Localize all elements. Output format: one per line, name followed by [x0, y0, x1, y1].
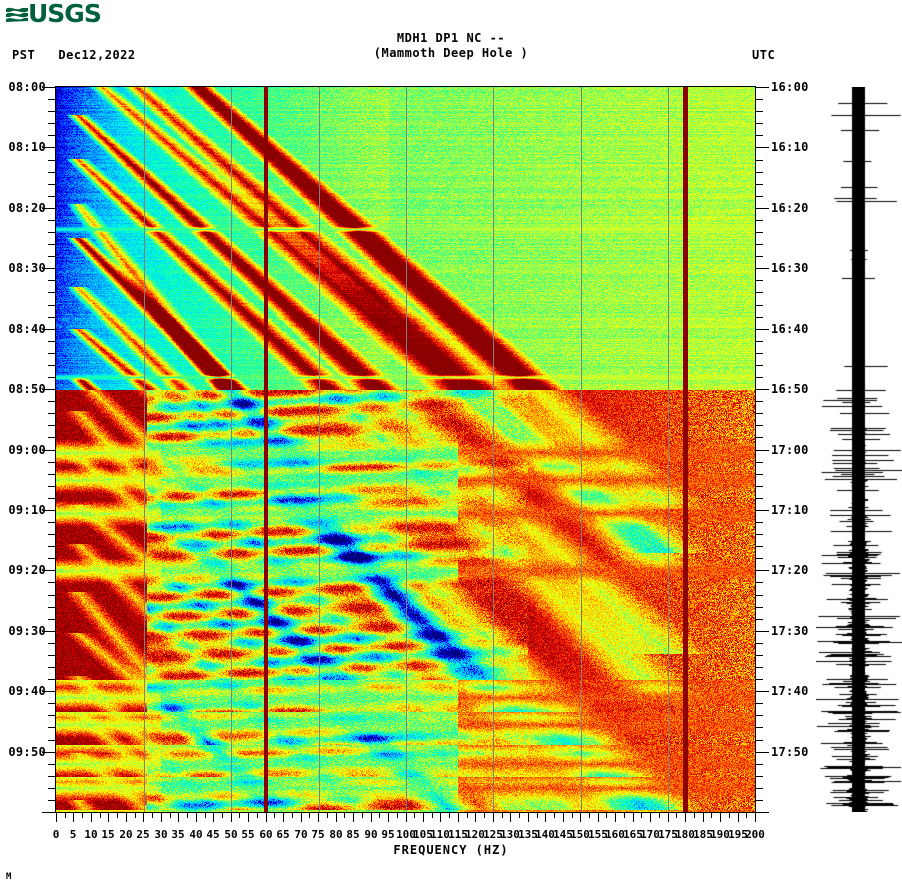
time-label-local-0930: 09:30 — [0, 624, 46, 638]
time-label-local-0850: 08:50 — [0, 382, 46, 396]
freq-label-200: 200 — [745, 828, 765, 841]
freq-label-45: 45 — [206, 828, 219, 841]
time-label-local-0910: 09:10 — [0, 503, 46, 517]
freq-label-25: 25 — [136, 828, 149, 841]
time-label-utc-1610: 16:10 — [771, 140, 809, 154]
freq-label-70: 70 — [294, 828, 307, 841]
freq-label-40: 40 — [189, 828, 202, 841]
freq-label-130: 130 — [500, 828, 520, 841]
page-subtitle: (Mammoth Deep Hole ) — [0, 46, 902, 60]
time-label-utc-1630: 16:30 — [771, 261, 809, 275]
freq-label-50: 50 — [224, 828, 237, 841]
frequency-axis-title: FREQUENCY (HZ) — [0, 843, 902, 857]
freq-label-60: 60 — [259, 828, 272, 841]
freq-label-15: 15 — [101, 828, 114, 841]
usgs-logo: USGS — [6, 2, 96, 28]
freq-label-65: 65 — [276, 828, 289, 841]
time-label-utc-1600: 16:00 — [771, 80, 809, 94]
time-label-local-0900: 09:00 — [0, 443, 46, 457]
freq-label-5: 5 — [70, 828, 77, 841]
time-label-utc-1650: 16:50 — [771, 382, 809, 396]
freq-label-0: 0 — [53, 828, 60, 841]
spectrogram-panel[interactable] — [56, 87, 755, 812]
time-label-utc-1620: 16:20 — [771, 201, 809, 215]
usgs-wave-icon — [6, 5, 28, 23]
page-title: MDH1 DP1 NC -- — [0, 31, 902, 45]
time-label-local-0940: 09:40 — [0, 684, 46, 698]
freq-label-75: 75 — [311, 828, 324, 841]
freq-label-180: 180 — [675, 828, 695, 841]
time-label-local-0820: 08:20 — [0, 201, 46, 215]
time-label-utc-1740: 17:40 — [771, 684, 809, 698]
usgs-wordmark: USGS — [28, 1, 101, 27]
corner-mark: M — [6, 872, 11, 882]
spectrogram-canvas[interactable] — [56, 87, 755, 812]
freq-label-170: 170 — [640, 828, 660, 841]
seismogram-trace-panel[interactable] — [816, 87, 902, 812]
freq-label-35: 35 — [171, 828, 184, 841]
time-label-utc-1730: 17:30 — [771, 624, 809, 638]
time-label-local-0920: 09:20 — [0, 563, 46, 577]
freq-label-120: 120 — [465, 828, 485, 841]
time-label-local-0810: 08:10 — [0, 140, 46, 154]
time-label-utc-1750: 17:50 — [771, 745, 809, 759]
freq-label-90: 90 — [364, 828, 377, 841]
time-label-local-0830: 08:30 — [0, 261, 46, 275]
time-label-utc-1710: 17:10 — [771, 503, 809, 517]
freq-label-10: 10 — [84, 828, 97, 841]
time-label-local-0950: 09:50 — [0, 745, 46, 759]
freq-label-95: 95 — [381, 828, 394, 841]
freq-label-110: 110 — [430, 828, 450, 841]
freq-label-80: 80 — [329, 828, 342, 841]
seismogram-trace-canvas[interactable] — [816, 87, 902, 812]
freq-label-30: 30 — [154, 828, 167, 841]
freq-label-140: 140 — [535, 828, 555, 841]
freq-label-85: 85 — [346, 828, 359, 841]
freq-label-190: 190 — [710, 828, 730, 841]
time-label-utc-1640: 16:40 — [771, 322, 809, 336]
time-label-utc-1720: 17:20 — [771, 563, 809, 577]
freq-label-20: 20 — [119, 828, 132, 841]
freq-label-150: 150 — [570, 828, 590, 841]
freq-label-55: 55 — [241, 828, 254, 841]
time-label-local-0840: 08:40 — [0, 322, 46, 336]
time-label-utc-1700: 17:00 — [771, 443, 809, 457]
freq-label-160: 160 — [605, 828, 625, 841]
time-label-local-0800: 08:00 — [0, 80, 46, 94]
